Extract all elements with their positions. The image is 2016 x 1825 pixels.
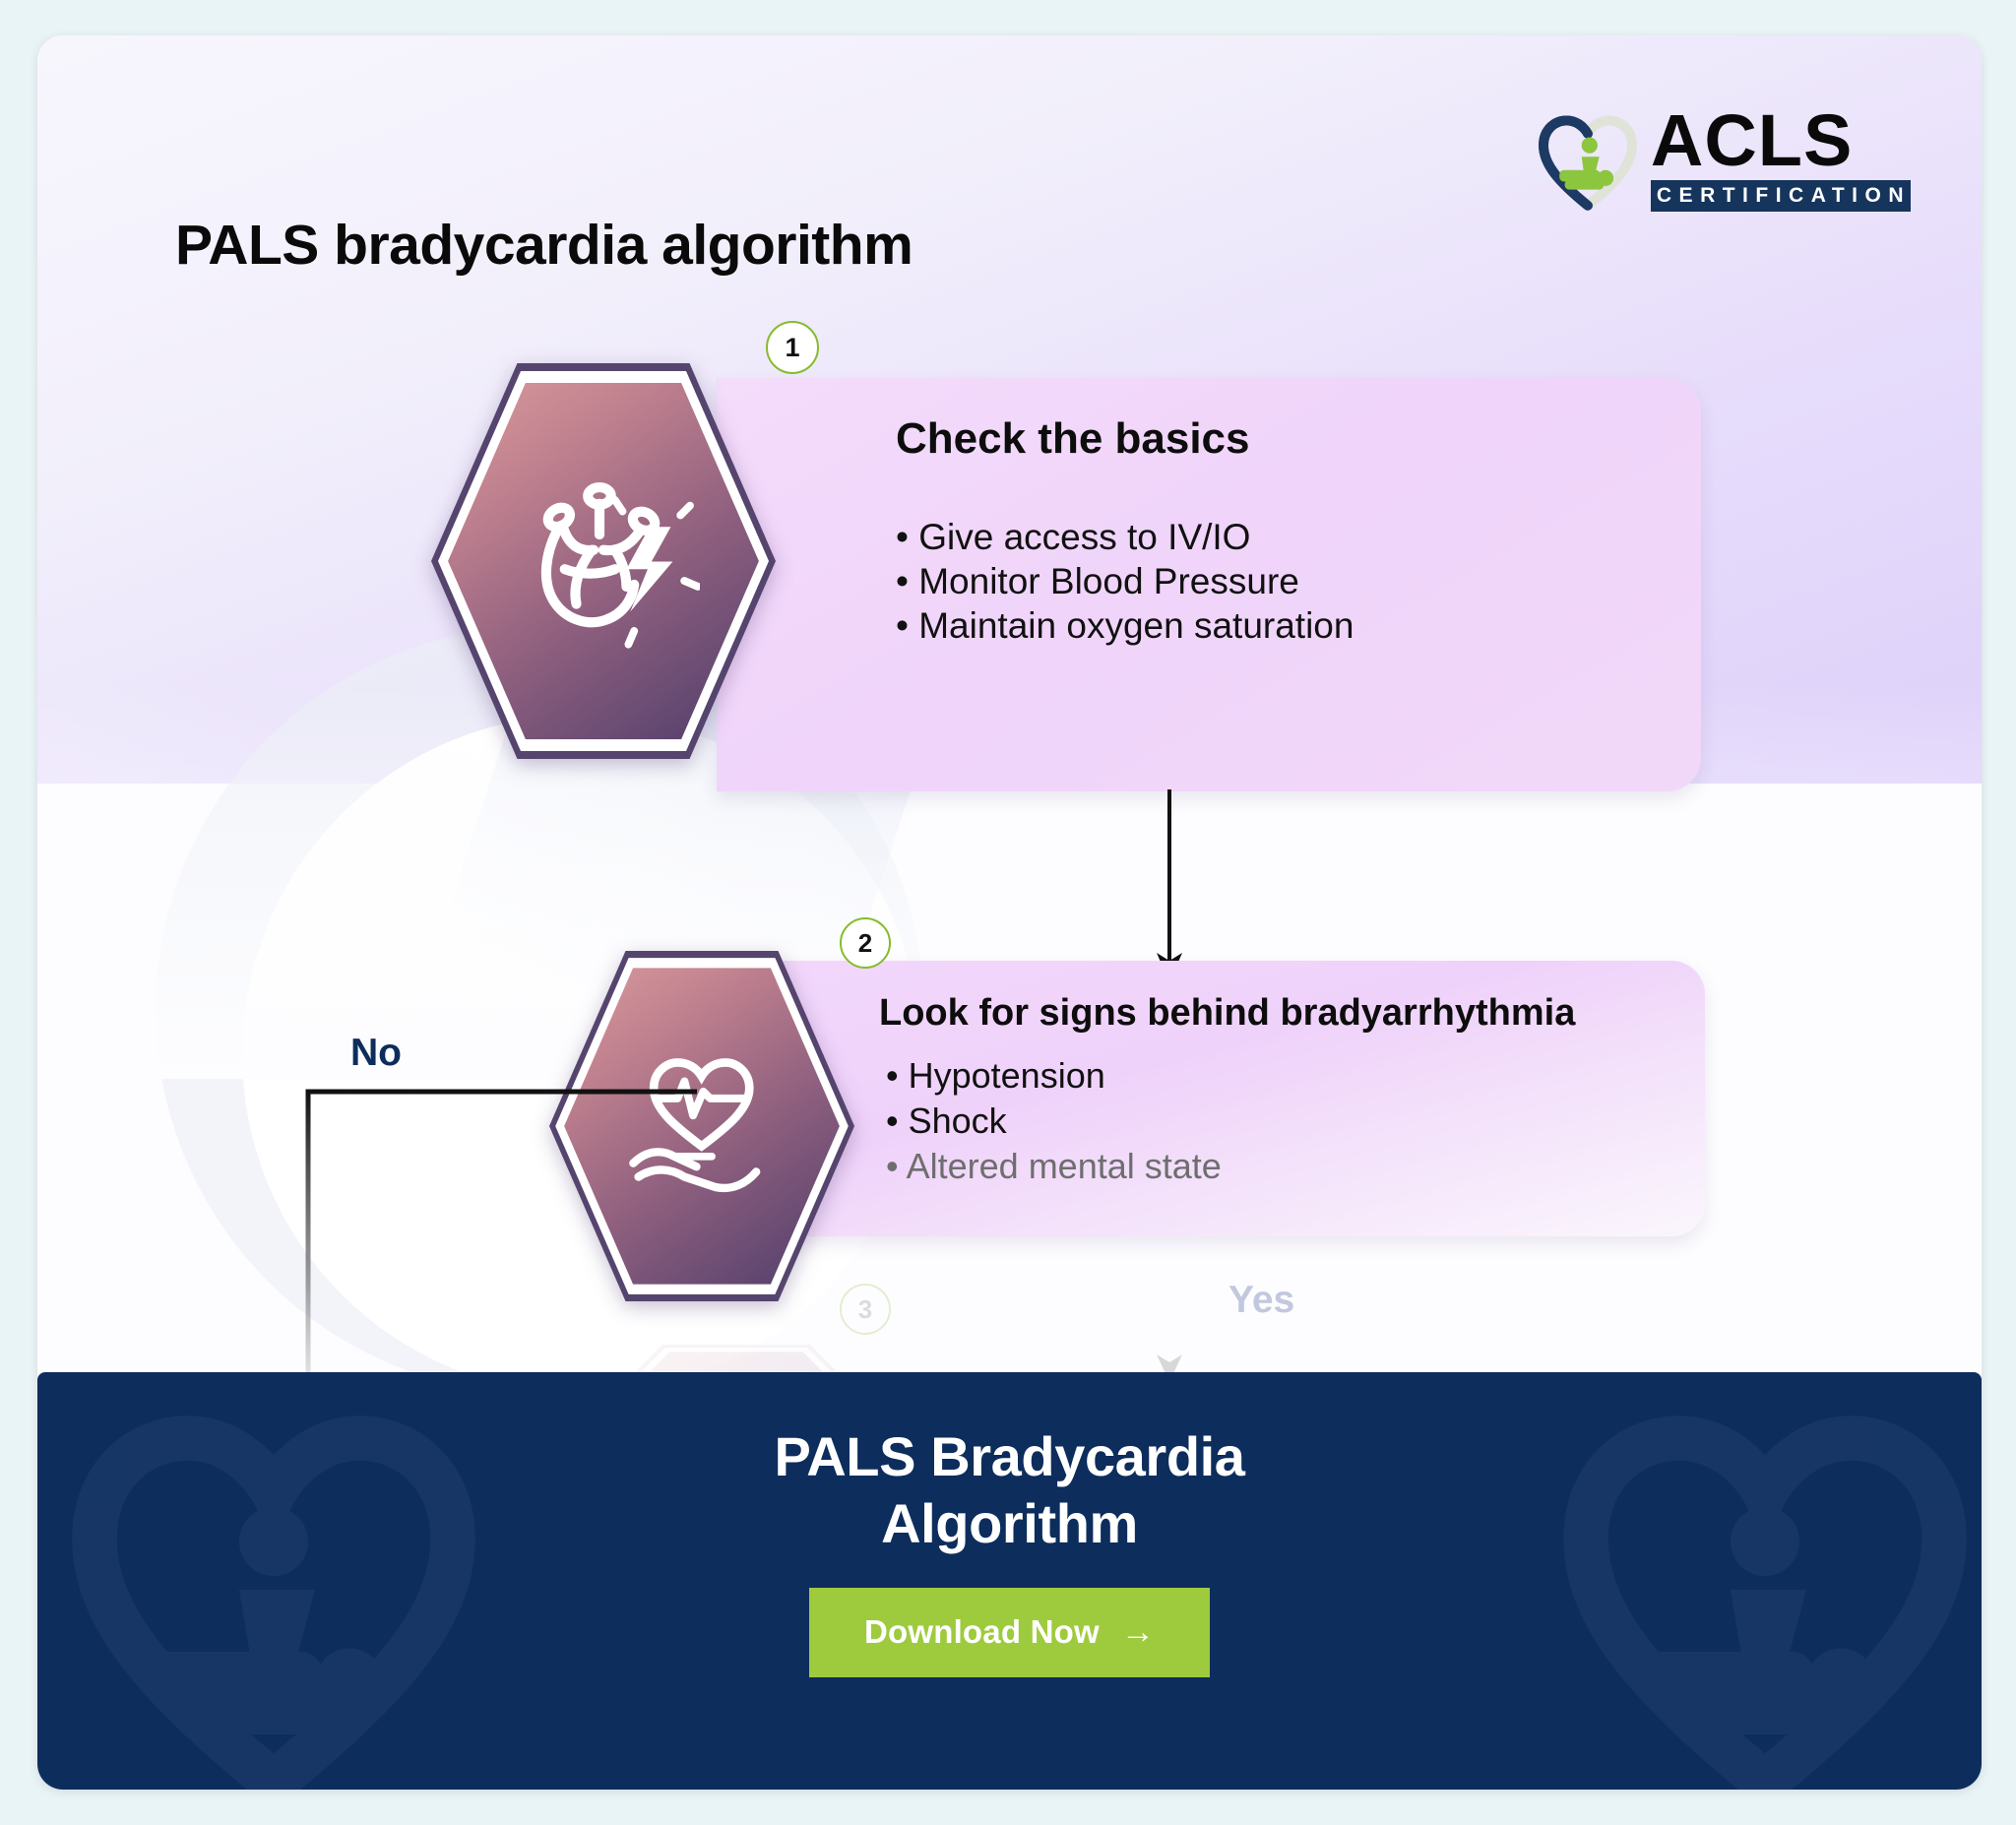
branch-label-no: No (350, 1032, 402, 1075)
step-2-hexagon (549, 951, 854, 1301)
branch-label-yes: Yes (1228, 1279, 1294, 1322)
step-1-badge: 1 (766, 321, 819, 374)
arrow-right-icon: → (1121, 1613, 1155, 1652)
download-cta-banner: PALS Bradycardia Algorithm Download Now … (37, 1372, 1982, 1790)
step-1-list-item: Maintain oxygen saturation (896, 603, 1354, 648)
cta-title-line1: PALS Bradycardia (774, 1425, 1244, 1487)
step-1-list-item: Monitor Blood Pressure (896, 559, 1354, 603)
connector-step1-to-step2 (1140, 789, 1199, 986)
step-2-list-item: Altered mental state (886, 1144, 1222, 1189)
logo-wordmark: ACLS CERTIFICATION (1651, 107, 1911, 211)
heart-ecg-in-hand-icon (616, 1028, 787, 1224)
anatomical-heart-lightning-icon (507, 451, 700, 672)
logo-certification-text: CERTIFICATION (1651, 180, 1911, 212)
step-2-list-item: Hypotension (886, 1053, 1222, 1099)
step-1-list-item: Give access to IV/IO (896, 515, 1354, 559)
cta-content: PALS Bradycardia Algorithm Download Now … (37, 1372, 1982, 1790)
connector-yes-branch (1140, 1232, 1199, 1390)
acls-certification-logo[interactable]: ACLS CERTIFICATION (1535, 106, 1911, 213)
step-1-hexagon (431, 363, 776, 759)
step-1-list: Give access to IV/IO Monitor Blood Press… (896, 515, 1354, 648)
step-1-heading: Check the basics (896, 414, 1250, 464)
screenshot-root: ACLS CERTIFICATION PALS bradycardia algo… (0, 0, 2016, 1825)
page-title: PALS bradycardia algorithm (175, 213, 913, 278)
download-now-button[interactable]: Download Now → (809, 1588, 1210, 1677)
cta-title-line2: Algorithm (881, 1492, 1138, 1554)
download-now-label: Download Now (864, 1613, 1100, 1651)
step-2-badge: 2 (840, 917, 891, 969)
step-2-list-item: Shock (886, 1099, 1222, 1144)
step-2-heading: Look for signs behind bradyarrhythmia (879, 992, 1575, 1035)
step-2-list: Hypotension Shock Altered mental state (886, 1053, 1222, 1189)
logo-acls-text: ACLS (1651, 107, 1911, 174)
acls-heart-cpr-logo-icon (1535, 106, 1641, 213)
step-3-badge: 3 (840, 1284, 891, 1335)
cta-title: PALS Bradycardia Algorithm (774, 1423, 1244, 1558)
